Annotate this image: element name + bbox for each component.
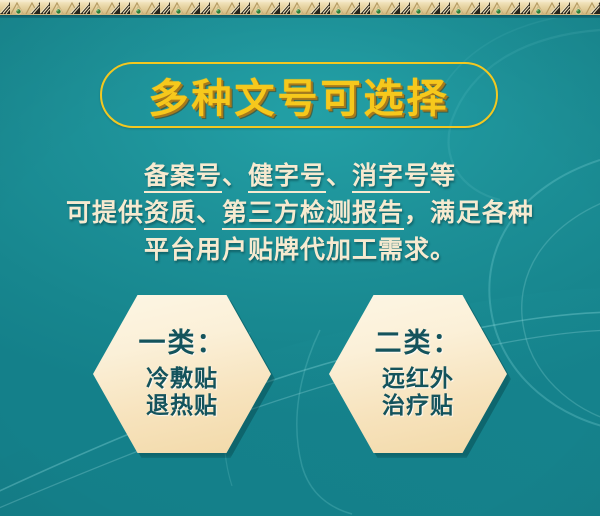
page-title: 多种文号可选择 [100,62,498,128]
highlight-term: 备案号 [144,163,222,193]
highlight-term: 健字号 [248,163,326,193]
hexagon-content: 一类： 冷敷贴 退热贴 [93,295,271,453]
separator: 、 [222,163,248,190]
category-hexagon-two[interactable]: 二类： 远红外 治疗贴 [329,295,507,453]
description-line-2: 可提供资质、第三方检测报告，满足各种 [0,195,600,232]
category-item: 退热贴 [146,392,218,419]
category-hexagon-one[interactable]: 一类： 冷敷贴 退热贴 [93,295,271,453]
highlight-term: 消字号 [352,163,430,193]
top-border-underline [0,15,600,18]
category-items: 远红外 治疗贴 [382,365,454,419]
plain-text: ，满足各种 [404,200,534,227]
highlight-term: 资质 [144,200,196,230]
separator: 、 [196,200,222,227]
plain-text: 平台用户贴牌代加工需求。 [144,237,456,264]
highlight-term: 第三方检测报告 [222,200,404,230]
plain-text: 可提供 [66,200,144,227]
plain-text: 等 [430,163,456,190]
category-heading: 二类： [375,329,462,357]
promo-poster: 多种文号可选择 备案号、健字号、消字号等 可提供资质、第三方检测报告，满足各种 … [0,0,600,516]
separator: 、 [326,163,352,190]
description-line-3: 平台用户贴牌代加工需求。 [0,232,600,269]
category-item: 冷敷贴 [146,365,218,392]
category-items: 冷敷贴 退热贴 [146,365,218,419]
category-item: 远红外 [382,365,454,392]
category-heading: 一类： [139,329,226,357]
category-item: 治疗贴 [382,392,454,419]
hexagon-content: 二类： 远红外 治疗贴 [329,295,507,453]
description-line-1: 备案号、健字号、消字号等 [0,158,600,195]
description-paragraph: 备案号、健字号、消字号等 可提供资质、第三方检测报告，满足各种 平台用户贴牌代加… [0,158,600,269]
